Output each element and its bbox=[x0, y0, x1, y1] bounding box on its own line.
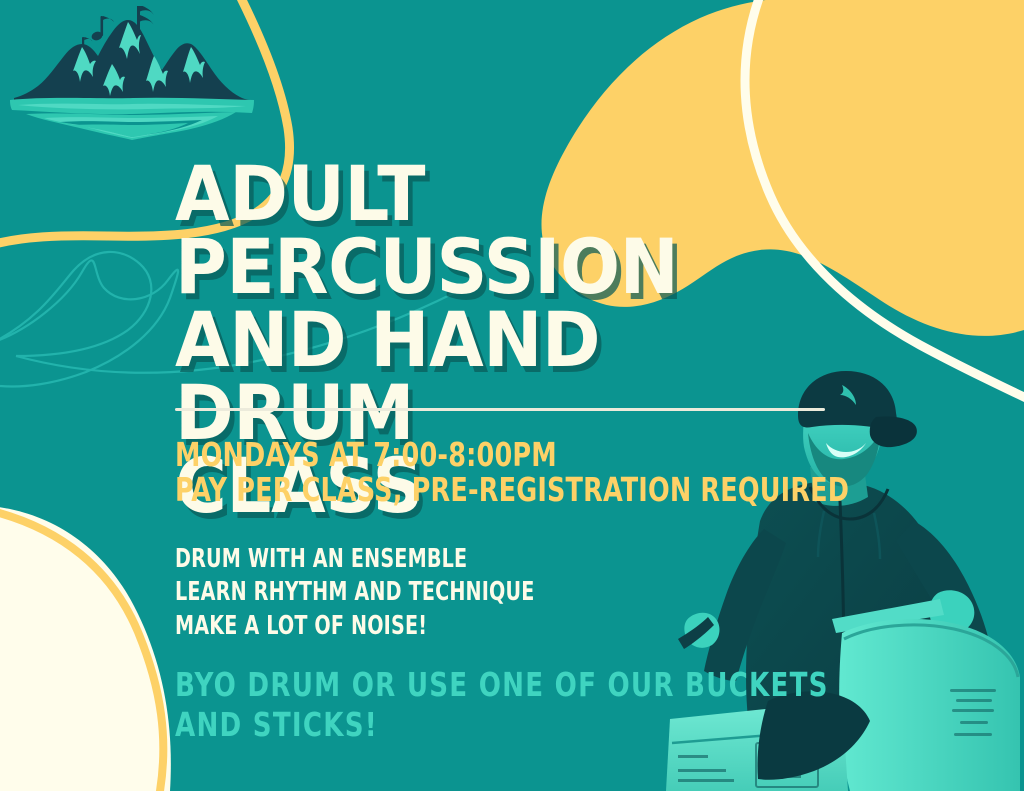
schedule-time: MONDAYS AT 7:00-8:00PM bbox=[175, 437, 794, 472]
yellow-curve-bottom-left bbox=[0, 510, 163, 791]
schedule-block: MONDAYS AT 7:00-8:00PM PAY PER CLASS, PR… bbox=[175, 437, 895, 508]
schedule-payment: PAY PER CLASS, PRE-REGISTRATION REQUIRED bbox=[175, 472, 794, 507]
flyer-canvas: ADULT PERCUSSION AND HAND DRUM CLASS MON… bbox=[0, 0, 1024, 791]
detail-item: DRUM WITH AN ENSEMBLE bbox=[175, 543, 765, 576]
cream-blob-bottom-left-upper bbox=[0, 506, 171, 791]
cream-blob-bottom-left bbox=[0, 530, 169, 791]
water-reflection bbox=[10, 98, 254, 140]
divider-rule bbox=[175, 408, 825, 411]
detail-item: MAKE A LOT OF NOISE! bbox=[175, 610, 765, 643]
swirl-loop-left bbox=[0, 260, 178, 386]
mountain-lake-music-logo bbox=[8, 6, 258, 142]
detail-item: LEARN RHYTHM AND TECHNIQUE bbox=[175, 576, 765, 609]
details-block: DRUM WITH AN ENSEMBLE LEARN RHYTHM AND T… bbox=[175, 543, 895, 643]
byo-block: BYO DRUM OR USE ONE OF OUR BUCKETS AND S… bbox=[175, 665, 895, 746]
swirl-loop-left-tail bbox=[0, 252, 151, 356]
byo-line: BYO DRUM OR USE ONE OF OUR BUCKETS bbox=[175, 665, 809, 705]
byo-line: AND STICKS! bbox=[175, 705, 809, 745]
